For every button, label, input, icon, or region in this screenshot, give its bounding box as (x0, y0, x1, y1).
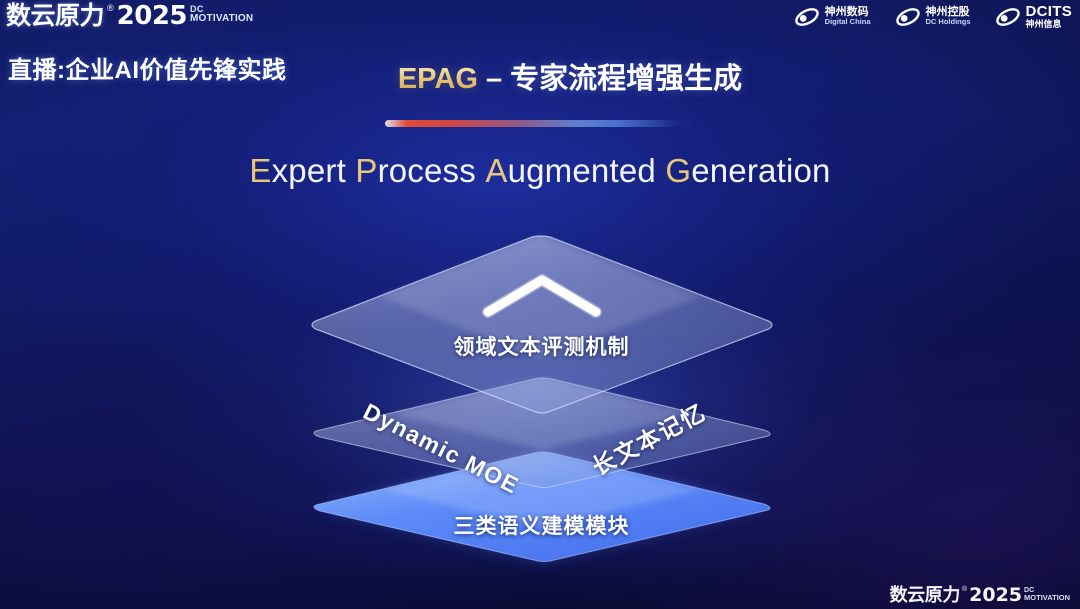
expansion-word-generation: eneration (691, 152, 830, 189)
title-divider (385, 120, 695, 127)
brand-motivation-text: MOTIVATION (190, 14, 253, 24)
live-stream-label: 直播:企业AI价值先锋实践 (8, 50, 287, 85)
partner-logo-digital-china: 神州数码 Digital China (794, 6, 871, 28)
watermark-dc-motivation: DC MOTIVATION (1024, 585, 1070, 602)
expansion-initial-e: E (249, 152, 271, 189)
partner-name-en: Digital China (825, 18, 871, 26)
expansion-word-augmented: ugmented (508, 152, 656, 189)
expansion-initial-a: A (485, 152, 507, 189)
watermark-year: 2025 (969, 585, 1022, 605)
chevron-up-icon (478, 268, 606, 322)
brand-dc-motivation: DC MOTIVATION (190, 2, 253, 24)
brand-year: 2025 (117, 2, 187, 30)
watermark-motivation-text: MOTIVATION (1024, 594, 1070, 602)
partner-name-en: DC Holdings (926, 18, 971, 26)
partner-text: 神州控股 DC Holdings (926, 7, 971, 26)
swirl-icon (895, 6, 921, 28)
partner-name-en: 神州信息 (1026, 20, 1073, 29)
title-acronym: EPAG (398, 63, 478, 95)
brand-logo: 数云原力 ® 2025 DC MOTIVATION (6, 2, 253, 30)
partner-logo-dc-holdings: 神州控股 DC Holdings (895, 6, 971, 28)
title-separator: – (478, 63, 510, 95)
partner-name-cn: DCITS (1026, 4, 1073, 20)
expansion-initial-g: G (665, 152, 691, 189)
expansion-word-expert: xpert (272, 152, 346, 189)
watermark-logo: 数云原力 ® 2025 DC MOTIVATION (890, 585, 1070, 605)
brand-registered-mark: ® (107, 2, 114, 14)
brand-name-cn: 数云原力 (6, 2, 104, 30)
partner-text: DCITS 神州信息 (1026, 4, 1073, 29)
expansion-word-process: rocess (378, 152, 476, 189)
partner-text: 神州数码 Digital China (825, 7, 871, 26)
title-chinese: 专家流程增强生成 (510, 63, 742, 95)
swirl-icon (794, 6, 820, 28)
subtitle-expansion: Expert Process Augmented Generation (0, 152, 1080, 190)
expansion-initial-p: P (355, 152, 377, 189)
watermark-registered-mark: ® (962, 585, 967, 594)
slide-canvas: 数云原力 ® 2025 DC MOTIVATION 直播:企业AI价值先锋实践 … (0, 0, 1080, 609)
watermark-name-cn: 数云原力 (890, 585, 960, 605)
partner-logo-group: 神州数码 Digital China 神州控股 DC Holdings DCIT… (794, 4, 1072, 29)
swirl-icon (995, 6, 1021, 28)
partner-logo-dcits: DCITS 神州信息 (995, 4, 1073, 29)
